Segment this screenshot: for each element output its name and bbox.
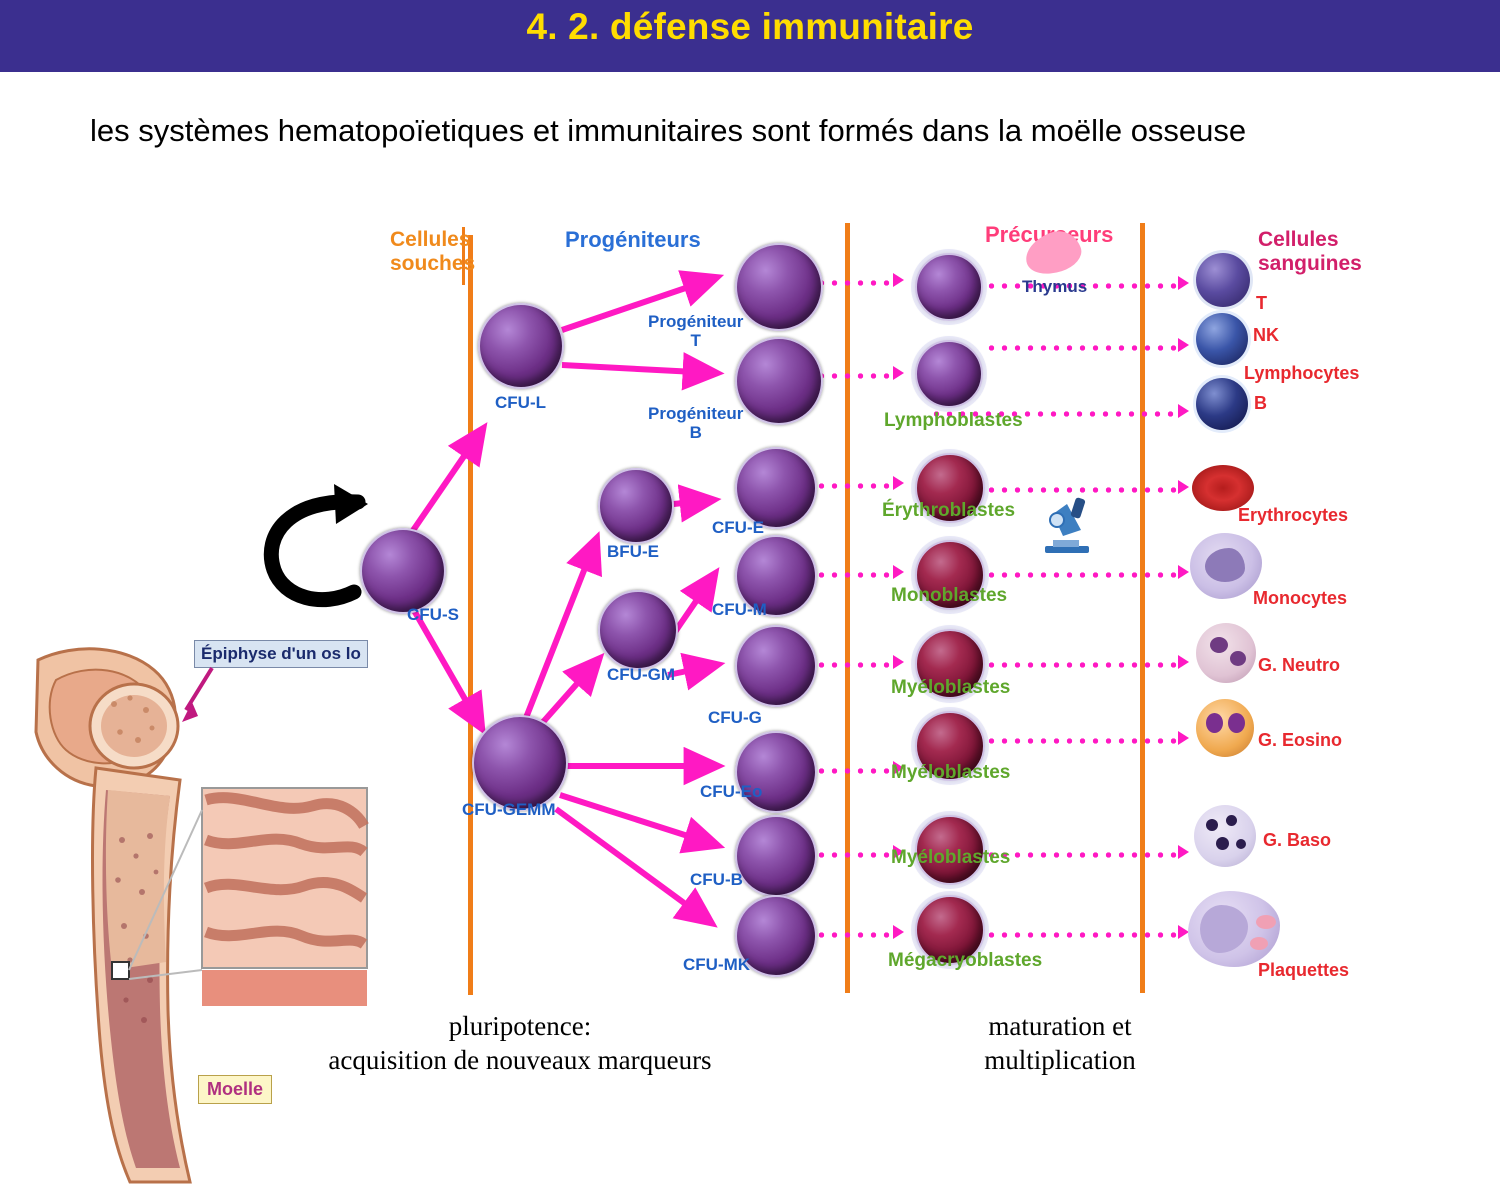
label-cfu-b: CFU-B [690, 870, 743, 890]
cell-cfu-g [735, 625, 817, 707]
caption-pluripotence-line1: pluripotence: [449, 1011, 591, 1041]
label-plaquettes: Plaquettes [1258, 960, 1349, 981]
caption-maturation-line2: multiplication [984, 1045, 1135, 1075]
cell-cfu-gemm [472, 715, 568, 811]
label-monoblastes: Monoblastes [891, 585, 1007, 607]
caption-maturation: maturation et multiplication [910, 1010, 1210, 1078]
arrowhead-nk-out [1178, 338, 1189, 352]
label-cfu-gemm: CFU-GEMM [462, 800, 555, 820]
cell-cfu-l [478, 303, 564, 389]
dotted-arrow-nk-out [985, 345, 1180, 351]
label-cfu-l: CFU-L [495, 393, 546, 413]
label-myeloblastes-1: Myéloblastes [891, 677, 1010, 699]
arrowhead-mono-out [1178, 565, 1189, 579]
dotted-arrow-mono-out [985, 572, 1180, 578]
bloodcell-eosinophile [1196, 699, 1254, 757]
dotted-arrow-eosino-out [985, 738, 1180, 744]
dotted-arrow-cfu-g [815, 662, 895, 668]
neutrophile-nucleus-2 [1230, 651, 1246, 666]
monocyte-nucleus [1205, 548, 1245, 582]
bloodcell-neutrophile [1196, 623, 1256, 683]
self-renewal-arrow [250, 480, 430, 630]
label-lymphoblastes: Lymphoblastes [884, 410, 1023, 432]
platelet-1 [1256, 915, 1276, 929]
title-bar: 4. 2. défense immunitaire [0, 0, 1500, 72]
label-t: T [1256, 293, 1267, 314]
cell-cfu-e [735, 447, 817, 529]
microscope-icon [1033, 490, 1103, 560]
label-bfu-e: BFU-E [607, 542, 659, 562]
arrowhead-cfu-e [893, 476, 904, 490]
arrowhead-eosino-out [1178, 731, 1189, 745]
basophile-granule-3 [1216, 837, 1229, 850]
arrowhead-b-out [1178, 404, 1189, 418]
arrowhead-prog-t [893, 273, 904, 287]
label-myeloblastes-3: Myéloblastes [891, 847, 1010, 869]
cell-progeniteur-t [735, 243, 823, 331]
label-cfu-gm: CFU-GM [607, 665, 675, 685]
arrowhead-ery-out [1178, 480, 1189, 494]
dotted-arrow-cfu-eo [815, 768, 895, 774]
bone-illustration: Épiphyse d'un os lo Moelle [30, 640, 370, 1200]
label-eosino: G. Eosino [1258, 730, 1342, 751]
caption-pluripotence-line2: acquisition de nouveaux marqueurs [328, 1045, 711, 1075]
caption-pluripotence: pluripotence: acquisition de nouveaux ma… [240, 1010, 800, 1078]
dotted-arrow-cfu-b [815, 852, 895, 858]
callout-moelle: Moelle [198, 1075, 272, 1104]
cell-precursor-t [915, 253, 983, 321]
dotted-arrow-cfu-mk [815, 932, 895, 938]
neutrophile-nucleus [1210, 637, 1228, 653]
label-myeloblastes-2: Myéloblastes [891, 762, 1010, 784]
hematopoiesis-diagram: Cellules souches Progéniteurs Précurseur… [0, 215, 1500, 1005]
dotted-arrow-baso-out [985, 852, 1180, 858]
divider-line-1 [468, 235, 473, 995]
column-header-progenitors: Progéniteurs [565, 228, 701, 253]
callout-epiphyse-label: Épiphyse d'un os lo [201, 644, 361, 663]
label-monocytes: Monocytes [1253, 588, 1347, 609]
bloodcell-basophile [1194, 805, 1256, 867]
cell-precursor-nk [915, 340, 983, 408]
dotted-arrow-prog-b [815, 373, 895, 379]
page-title: 4. 2. défense immunitaire [0, 6, 1500, 48]
intro-paragraph: les systèmes hematopoïetiques et immunit… [90, 110, 1290, 152]
label-erythroblastes: Érythroblastes [882, 500, 1015, 522]
label-cfu-m: CFU-M [712, 600, 767, 620]
platelet-2 [1250, 937, 1268, 950]
cell-progeniteur-b [735, 337, 823, 425]
label-erythrocytes: Erythrocytes [1238, 505, 1348, 526]
eosinophile-nucleus-2 [1228, 713, 1245, 733]
basophile-granule-1 [1206, 819, 1218, 831]
dotted-arrow-cfu-e [815, 483, 895, 489]
label-megacaryoblastes: Mégacryoblastes [888, 950, 1042, 972]
label-cfu-eo: CFU-Eo [700, 782, 762, 802]
dotted-arrow-cfu-m [815, 572, 895, 578]
callout-moelle-label: Moelle [207, 1079, 263, 1099]
label-b: B [1254, 393, 1267, 414]
arrowhead-cfu-mk [893, 925, 904, 939]
basophile-granule-4 [1236, 839, 1246, 849]
arrowhead-prog-b [893, 366, 904, 380]
bloodcell-nk [1196, 313, 1248, 365]
label-progeniteur-b: Progéniteur B [648, 405, 743, 442]
arrowhead-t-out [1178, 276, 1189, 290]
label-neutro: G. Neutro [1258, 655, 1340, 676]
caption-maturation-line1: maturation et [988, 1011, 1131, 1041]
bloodcell-b [1196, 378, 1248, 430]
dotted-arrow-prog-t [815, 280, 895, 286]
basophile-granule-2 [1226, 815, 1237, 826]
label-cfu-g: CFU-G [708, 708, 762, 728]
label-thymus: Thymus [1022, 277, 1087, 297]
label-cfu-e: CFU-E [712, 518, 764, 538]
column-header-stem-cells: Cellules souches [390, 228, 475, 275]
dotted-arrow-plaq-out [985, 932, 1180, 938]
column-header-blood-cells: Cellules sanguines [1258, 228, 1362, 275]
cell-bfu-e [598, 468, 674, 544]
callout-epiphyse-arrow [170, 664, 230, 734]
dotted-arrow-neutro-out [985, 662, 1180, 668]
divider-line-2 [845, 223, 850, 993]
cell-cfu-b [735, 815, 817, 897]
label-progeniteur-t: Progéniteur T [648, 313, 743, 350]
divider-line-3 [1140, 223, 1145, 993]
label-cfu-mk: CFU-MK [683, 955, 750, 975]
label-lymphocytes: Lymphocytes [1244, 363, 1359, 384]
arrowhead-cfu-g [893, 655, 904, 669]
label-baso: G. Baso [1263, 830, 1331, 851]
arrowhead-baso-out [1178, 845, 1189, 859]
arrowhead-neutro-out [1178, 655, 1189, 669]
cell-cfu-gm [598, 590, 678, 670]
arrowhead-cfu-m [893, 565, 904, 579]
label-nk: NK [1253, 325, 1279, 346]
eosinophile-nucleus [1206, 713, 1223, 733]
bloodcell-t [1196, 253, 1250, 307]
